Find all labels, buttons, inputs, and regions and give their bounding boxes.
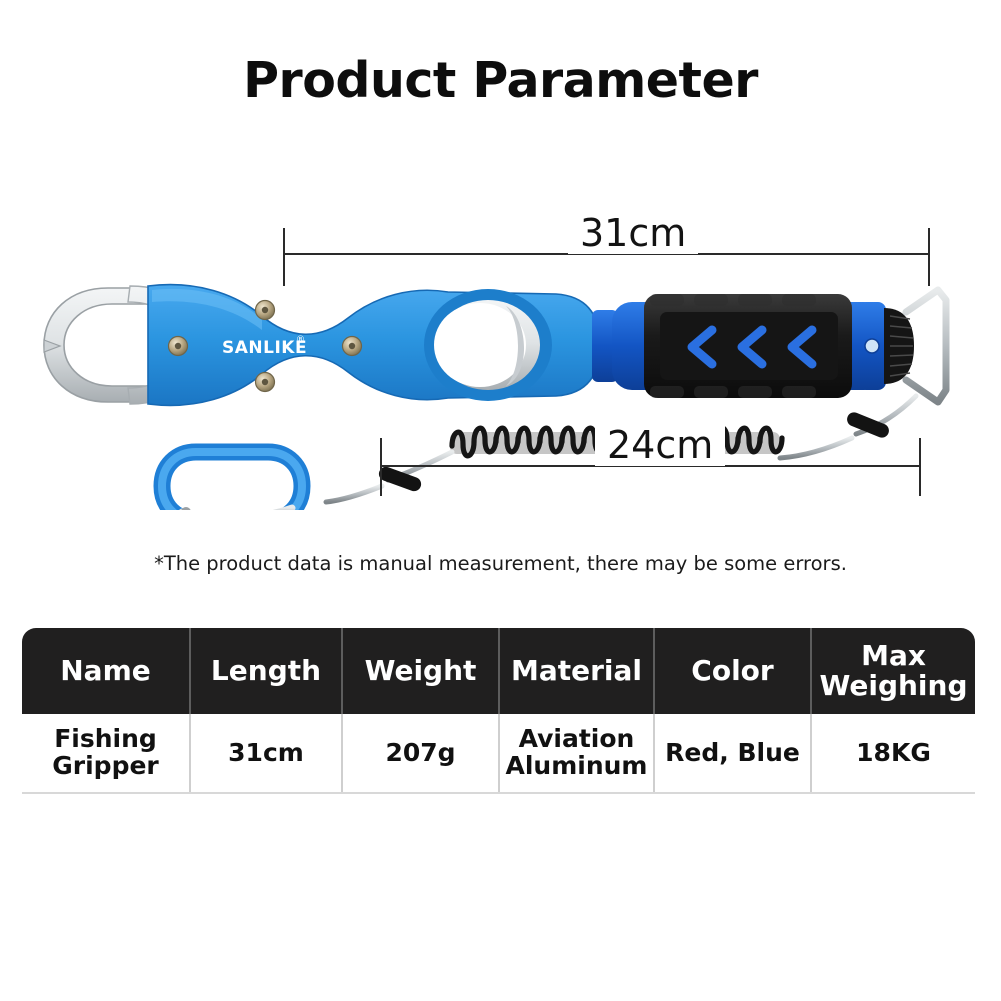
- table-header-max-weighing: Max Weighing: [812, 628, 975, 714]
- brand-mark: SANLIKE: [222, 338, 307, 358]
- product-parameter-page: Product Parameter 31cm: [0, 0, 1001, 1001]
- table-header-length: Length: [191, 628, 343, 714]
- page-title: Product Parameter: [0, 52, 1001, 109]
- brand-registered-mark: ®: [296, 335, 305, 345]
- gripper-body: SANLIKE ®: [148, 285, 618, 406]
- table-header-color: Color: [655, 628, 812, 714]
- specification-table: Name Length Weight Material Color Max We…: [22, 628, 975, 794]
- measurement-disclaimer: *The product data is manual measurement,…: [0, 552, 1001, 575]
- coiled-lanyard: [162, 396, 916, 510]
- table-header-row: Name Length Weight Material Color Max We…: [22, 628, 975, 714]
- table-header-weight: Weight: [343, 628, 500, 714]
- table-cell-color: Red, Blue: [655, 714, 812, 792]
- product-illustration: 31cm: [0, 190, 1001, 510]
- dimension-tick-left-24cm: [380, 438, 382, 496]
- gripper-handle: [612, 290, 946, 402]
- carabiner-gate: [182, 508, 292, 510]
- table-cell-name: Fishing Gripper: [22, 714, 191, 792]
- table-cell-length: 31cm: [191, 714, 343, 792]
- table-header-material: Material: [500, 628, 655, 714]
- carabiner: [162, 452, 302, 510]
- table-row: Fishing Gripper 31cm 207g Aviation Alumi…: [22, 714, 975, 794]
- fishing-gripper-graphic: SANLIKE ®: [0, 190, 1001, 510]
- table-cell-material: Aviation Aluminum: [500, 714, 655, 792]
- table-cell-weight: 207g: [343, 714, 500, 792]
- table-cell-max-weighing: 18KG: [812, 714, 975, 792]
- release-button: [865, 339, 879, 353]
- dimension-label-24cm: 24cm: [595, 424, 725, 466]
- dimension-tick-right-24cm: [919, 438, 921, 496]
- cable-crimp-right: [845, 410, 891, 439]
- table-header-name: Name: [22, 628, 191, 714]
- trigger-ring: [424, 289, 552, 401]
